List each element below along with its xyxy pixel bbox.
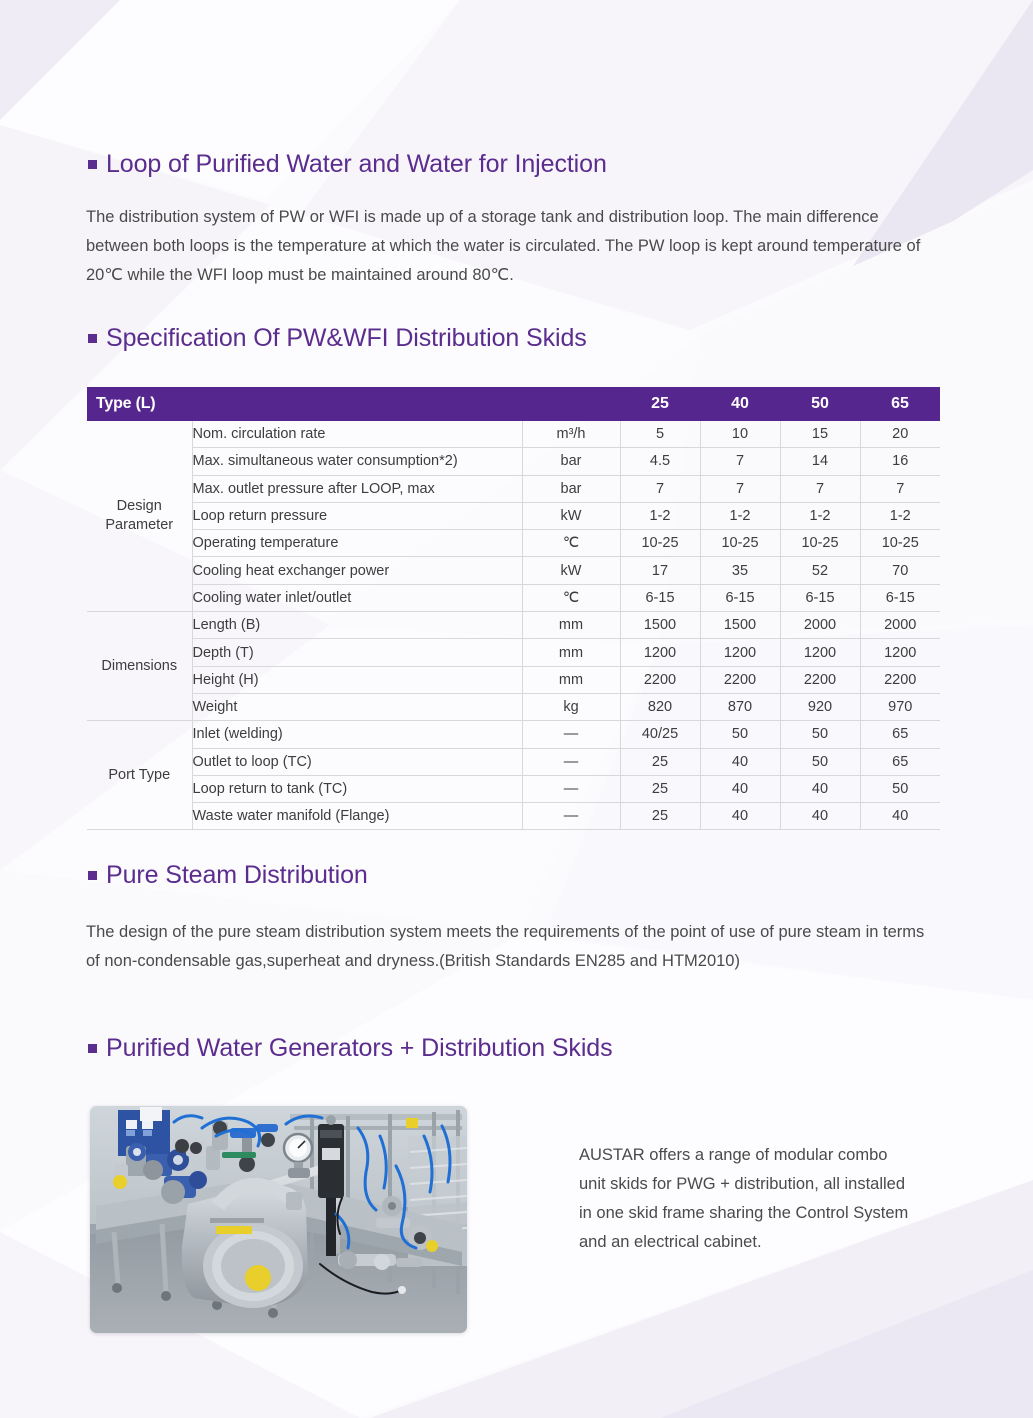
table-row: Operating temperature℃10-2510-2510-2510-… [87,530,940,557]
table-row-label: Height (H) [192,666,522,693]
table-row-label: Max. outlet pressure after LOOP, max [192,475,522,502]
table-row: DimensionsLength (B)mm1500150020002000 [87,612,940,639]
table-cell-value: 6-15 [860,584,940,611]
table-cell-value: 7 [780,475,860,502]
table-row: Cooling heat exchanger powerkW17355270 [87,557,940,584]
table-header-col-50: 50 [780,387,860,421]
table-row-label: Cooling water inlet/outlet [192,584,522,611]
table-row-unit: bar [522,475,620,502]
table-row: Loop return to tank (TC)—25404050 [87,775,940,802]
table-row-unit: — [522,721,620,748]
table-cell-value: 14 [780,448,860,475]
table-cell-value: 970 [860,693,940,720]
table-cell-value: 820 [620,693,700,720]
table-row-label: Outlet to loop (TC) [192,748,522,775]
table-cell-value: 20 [860,421,940,448]
section-heading-specification: Specification Of PW&WFI Distribution Ski… [88,326,587,351]
table-row-label: Operating temperature [192,530,522,557]
table-row-label: Loop return pressure [192,502,522,529]
table-row: Max. outlet pressure after LOOP, maxbar7… [87,475,940,502]
equipment-photo [90,1106,467,1333]
table-row: Port TypeInlet (welding)—40/25505065 [87,721,940,748]
table-cell-value: 50 [700,721,780,748]
table-row-unit: mm [522,612,620,639]
section-heading-pure-steam: Pure Steam Distribution [88,863,368,888]
table-cell-value: 2200 [620,666,700,693]
table-cell-value: 1-2 [860,502,940,529]
table-row-label: Weight [192,693,522,720]
table-header: Type (L) 25 40 50 65 [87,387,940,421]
table-row-label: Length (B) [192,612,522,639]
table-group-label: Dimensions [87,612,192,721]
table-header-col-25: 25 [620,387,700,421]
table-row-unit: bar [522,448,620,475]
table-cell-value: 920 [780,693,860,720]
table-cell-value: 40 [780,803,860,830]
table-row-label: Depth (T) [192,639,522,666]
table-cell-value: 10-25 [780,530,860,557]
table-cell-value: 1200 [620,639,700,666]
table-row-unit: m³/h [522,421,620,448]
table-cell-value: 25 [620,775,700,802]
table-row: Height (H)mm2200220022002200 [87,666,940,693]
table-cell-value: 1-2 [780,502,860,529]
table-cell-value: 7 [860,475,940,502]
table-cell-value: 10-25 [620,530,700,557]
section-heading-generators-text: Purified Water Generators + Distribution… [106,1034,613,1062]
table-row-label: Loop return to tank (TC) [192,775,522,802]
table-row: Loop return pressurekW1-21-21-21-2 [87,502,940,529]
table-row-unit: — [522,748,620,775]
table-cell-value: 2200 [860,666,940,693]
table-row-label: Nom. circulation rate [192,421,522,448]
table-cell-value: 7 [700,448,780,475]
table-cell-value: 40 [700,775,780,802]
table-cell-value: 25 [620,803,700,830]
table-cell-value: 15 [780,421,860,448]
table-cell-value: 1200 [700,639,780,666]
table-cell-value: 2000 [860,612,940,639]
section-heading-pure-steam-text: Pure Steam Distribution [106,861,368,889]
table-cell-value: 50 [780,748,860,775]
section-heading-loop-text: Loop of Purified Water and Water for Inj… [106,150,607,178]
table-cell-value: 35 [700,557,780,584]
table-body: Design ParameterNom. circulation ratem³/… [87,421,940,830]
bullet-square-icon [88,1044,97,1053]
section-heading-loop: Loop of Purified Water and Water for Inj… [88,152,607,177]
table-row-unit: ℃ [522,584,620,611]
table-row-unit: ℃ [522,530,620,557]
table-cell-value: 7 [620,475,700,502]
specification-table: Type (L) 25 40 50 65 Design ParameterNom… [87,387,940,830]
table-row-unit: kW [522,502,620,529]
table-row-unit: mm [522,639,620,666]
table-group-label: Design Parameter [87,421,192,612]
table-cell-value: 10-25 [700,530,780,557]
table-cell-value: 17 [620,557,700,584]
table-header-type: Type (L) [87,387,620,421]
table-cell-value: 1-2 [700,502,780,529]
bullet-square-icon [88,160,97,169]
table-cell-value: 2000 [780,612,860,639]
document-page: Loop of Purified Water and Water for Inj… [0,0,1033,1418]
table-row: Max. simultaneous water consumption*2)ba… [87,448,940,475]
bullet-square-icon [88,334,97,343]
table-cell-value: 5 [620,421,700,448]
table-row: Design ParameterNom. circulation ratem³/… [87,421,940,448]
equipment-photo-image [90,1106,467,1333]
bullet-square-icon [88,871,97,880]
paragraph-austar: AUSTAR offers a range of modular combo u… [579,1141,909,1257]
table-cell-value: 40/25 [620,721,700,748]
section-heading-generators: Purified Water Generators + Distribution… [88,1036,613,1061]
table-row: Cooling water inlet/outlet℃6-156-156-156… [87,584,940,611]
table-cell-value: 65 [860,721,940,748]
table-row-unit: kW [522,557,620,584]
table-cell-value: 7 [700,475,780,502]
section-heading-specification-text: Specification Of PW&WFI Distribution Ski… [106,324,587,352]
table-row-label: Max. simultaneous water consumption*2) [192,448,522,475]
paragraph-pure-steam: The design of the pure steam distributio… [86,918,936,976]
table-header-row: Type (L) 25 40 50 65 [87,387,940,421]
table-cell-value: 6-15 [780,584,860,611]
table-cell-value: 40 [780,775,860,802]
table-group-label: Port Type [87,721,192,830]
table-cell-value: 6-15 [620,584,700,611]
table-cell-value: 4.5 [620,448,700,475]
table-row: Waste water manifold (Flange)—25404040 [87,803,940,830]
table-cell-value: 50 [860,775,940,802]
table-row-unit: kg [522,693,620,720]
table-cell-value: 1200 [860,639,940,666]
table-row-label: Inlet (welding) [192,721,522,748]
table-row-unit: — [522,775,620,802]
table-cell-value: 40 [700,803,780,830]
table-row-label: Cooling heat exchanger power [192,557,522,584]
table-cell-value: 16 [860,448,940,475]
table-cell-value: 870 [700,693,780,720]
table-cell-value: 50 [780,721,860,748]
table-cell-value: 65 [860,748,940,775]
table-cell-value: 40 [700,748,780,775]
table-cell-value: 1200 [780,639,860,666]
table-cell-value: 25 [620,748,700,775]
table-row-unit: — [522,803,620,830]
table-header-col-40: 40 [700,387,780,421]
table-row: Outlet to loop (TC)—25405065 [87,748,940,775]
table-row: Depth (T)mm1200120012001200 [87,639,940,666]
table-cell-value: 10 [700,421,780,448]
table-cell-value: 1500 [620,612,700,639]
table-cell-value: 2200 [780,666,860,693]
table-row-unit: mm [522,666,620,693]
table-cell-value: 70 [860,557,940,584]
table-header-col-65: 65 [860,387,940,421]
table-cell-value: 6-15 [700,584,780,611]
specification-table-container: Type (L) 25 40 50 65 Design ParameterNom… [87,387,940,830]
table-cell-value: 52 [780,557,860,584]
table-cell-value: 40 [860,803,940,830]
table-cell-value: 1500 [700,612,780,639]
table-cell-value: 1-2 [620,502,700,529]
table-cell-value: 10-25 [860,530,940,557]
table-row: Weightkg820870920970 [87,693,940,720]
table-row-label: Waste water manifold (Flange) [192,803,522,830]
paragraph-loop: The distribution system of PW or WFI is … [86,203,934,290]
table-cell-value: 2200 [700,666,780,693]
